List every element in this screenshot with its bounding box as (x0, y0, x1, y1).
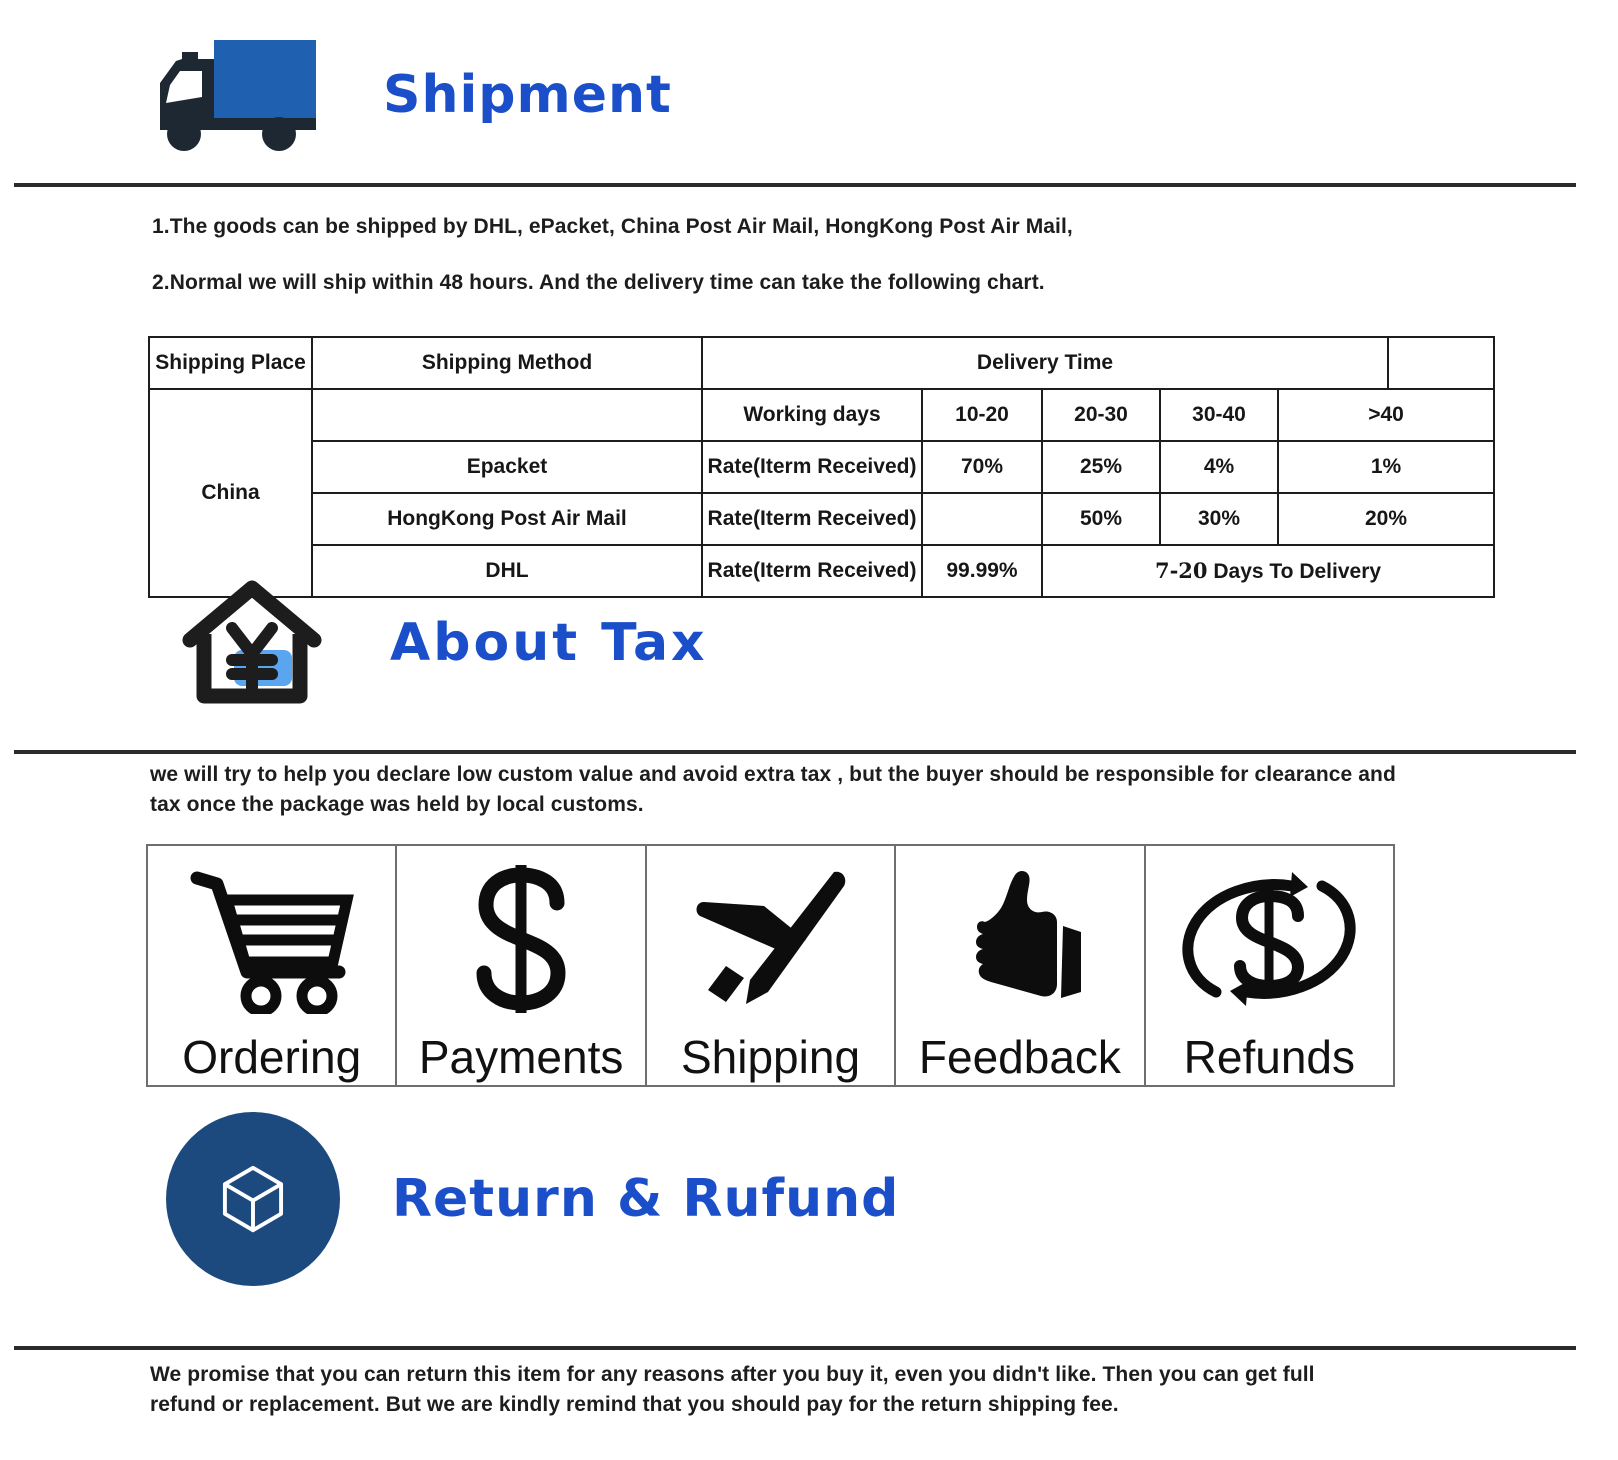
shopping-cart-icon (148, 846, 395, 1033)
tax-header: About Tax (182, 578, 708, 708)
shipment-line-1: 1.The goods can be shipped by DHL, ePack… (152, 212, 1352, 242)
service-icons-row: Ordering Payments S (146, 844, 1395, 1087)
dhl-days-number: 7-20 (1155, 558, 1208, 583)
service-cell-payments[interactable]: Payments (397, 846, 646, 1085)
service-cell-refunds[interactable]: Refunds (1146, 846, 1393, 1085)
table-row: Epacket Rate(Iterm Received) 70% 25% 4% … (149, 441, 1494, 493)
divider-middle (14, 750, 1576, 754)
cell-method-blank (312, 389, 702, 441)
th-extra (1388, 337, 1494, 389)
service-label-ordering: Ordering (182, 1033, 361, 1081)
cell-epacket-over-40: 1% (1278, 441, 1494, 493)
tax-paragraph: we will try to help you declare low cust… (150, 760, 1410, 821)
service-label-refunds: Refunds (1184, 1033, 1355, 1081)
service-label-shipping: Shipping (681, 1033, 860, 1081)
cell-epacket-10-20: 70% (922, 441, 1042, 493)
cell-hk-10-20 (922, 493, 1042, 545)
cell-dhl-10-20: 99.99% (922, 545, 1042, 597)
cell-hk-20-30: 50% (1042, 493, 1160, 545)
table-row: HongKong Post Air Mail Rate(Iterm Receiv… (149, 493, 1494, 545)
th-shipping-place: Shipping Place (149, 337, 312, 389)
cell-method-epacket: Epacket (312, 441, 702, 493)
service-label-payments: Payments (419, 1033, 624, 1081)
service-cell-feedback[interactable]: Feedback (896, 846, 1145, 1085)
cell-range-over-40: >40 (1278, 389, 1494, 441)
cell-epacket-20-30: 25% (1042, 441, 1160, 493)
cell-rate-label-dhl: Rate(Iterm Received) (702, 545, 922, 597)
cell-hk-over-40: 20% (1278, 493, 1494, 545)
cell-rate-label-hk-post: Rate(Iterm Received) (702, 493, 922, 545)
service-label-feedback: Feedback (919, 1033, 1121, 1081)
truck-icon (152, 35, 327, 155)
service-cell-shipping[interactable]: Shipping (647, 846, 896, 1085)
cell-dhl-merged-note: 7-20 Days To Delivery (1042, 545, 1494, 597)
th-delivery-time: Delivery Time (702, 337, 1388, 389)
table-row: China Working days 10-20 20-30 30-40 >40 (149, 389, 1494, 441)
package-cube-icon (166, 1112, 340, 1286)
returns-title: Return & Rufund (392, 1169, 899, 1229)
shipment-title: Shipment (383, 65, 672, 125)
th-shipping-method: Shipping Method (312, 337, 702, 389)
refund-circle-dollar-icon (1146, 846, 1393, 1033)
returns-header: Return & Rufund (166, 1112, 899, 1286)
cell-shipping-place-china: China (149, 389, 312, 597)
shipment-header: Shipment (152, 35, 672, 155)
divider-bottom (14, 1346, 1576, 1350)
cell-rate-label-epacket: Rate(Iterm Received) (702, 441, 922, 493)
cell-epacket-30-40: 4% (1160, 441, 1278, 493)
table-row-header: Shipping Place Shipping Method Delivery … (149, 337, 1494, 389)
cell-method-hk-post: HongKong Post Air Mail (312, 493, 702, 545)
divider-top (14, 183, 1576, 187)
thumbs-up-icon (896, 846, 1143, 1033)
airplane-icon (647, 846, 894, 1033)
cell-range-30-40: 30-40 (1160, 389, 1278, 441)
dhl-days-text: Days To Delivery (1213, 560, 1381, 583)
cell-range-20-30: 20-30 (1042, 389, 1160, 441)
cell-hk-30-40: 30% (1160, 493, 1278, 545)
shipping-delivery-table: Shipping Place Shipping Method Delivery … (148, 336, 1495, 598)
promo-info-page: Shipment 1.The goods can be shipped by D… (0, 0, 1618, 1460)
returns-paragraph: We promise that you can return this item… (150, 1360, 1350, 1421)
service-cell-ordering[interactable]: Ordering (148, 846, 397, 1085)
tax-title: About Tax (390, 613, 708, 673)
house-yen-icon (182, 578, 322, 708)
cell-range-10-20: 10-20 (922, 389, 1042, 441)
shipment-line-2: 2.Normal we will ship within 48 hours. A… (152, 268, 1352, 298)
cell-working-days-label: Working days (702, 389, 922, 441)
dollar-sign-icon (397, 846, 644, 1033)
